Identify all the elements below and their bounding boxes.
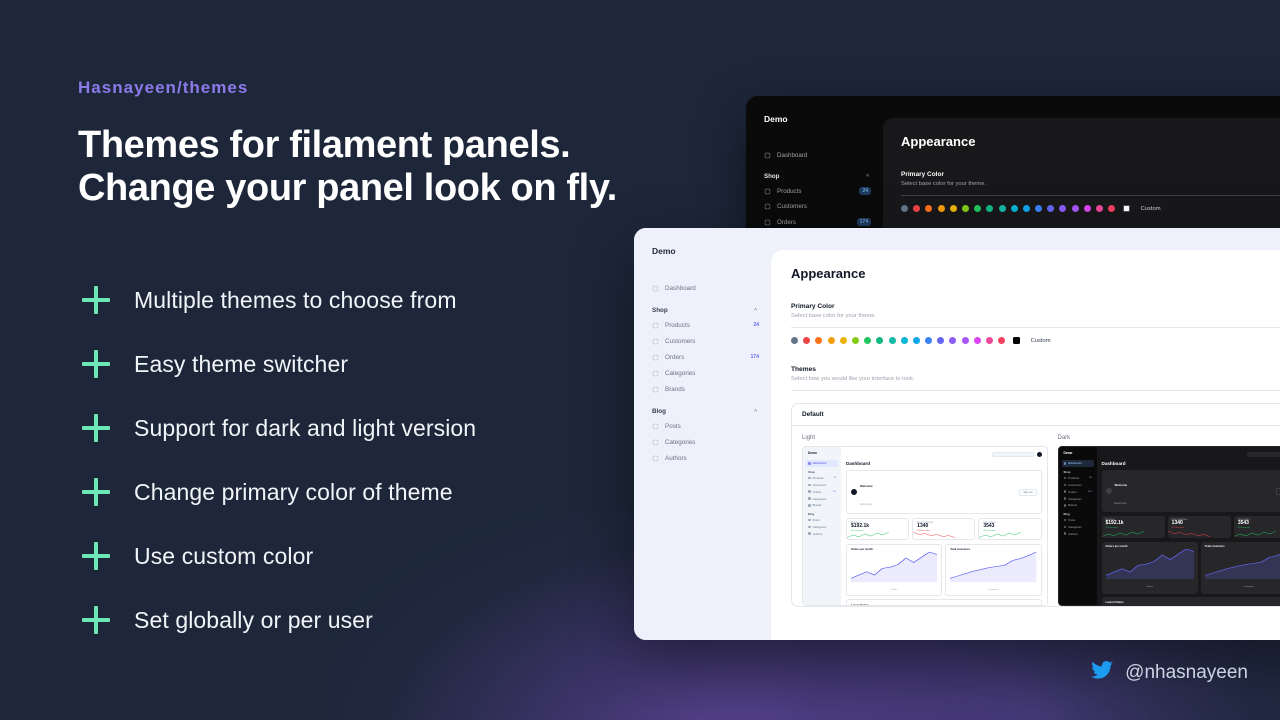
sidebar-item-label: Orders	[777, 219, 796, 226]
color-swatch[interactable]	[962, 337, 969, 344]
preview-sparkline	[1234, 531, 1276, 538]
sidebar-item-customers[interactable]: Customers	[634, 333, 771, 349]
item-icon	[1064, 532, 1067, 535]
item-icon	[808, 504, 811, 507]
color-swatch[interactable]	[974, 205, 981, 212]
repo-name: Hasnayeen/themes	[78, 78, 638, 98]
item-icon	[808, 519, 811, 522]
divider	[791, 390, 1280, 391]
themes-description: Select how you would like your interface…	[791, 376, 1280, 382]
bolt-icon	[764, 188, 771, 195]
preview-charts-row: Orders per monthOrdersTotal customersCus…	[846, 544, 1042, 596]
book-icon	[652, 386, 659, 393]
preview-charts-row: Orders per monthOrdersTotal customersCus…	[1102, 542, 1280, 594]
dark-panel-brand: Demo	[746, 110, 883, 124]
color-swatch[interactable]	[1084, 205, 1091, 212]
item-icon	[808, 497, 811, 500]
hero-text-block: Hasnayeen/themes Themes for filament pan…	[78, 78, 638, 210]
color-swatch[interactable]	[938, 205, 945, 212]
dark-color-swatch-row: Custom	[901, 205, 1280, 212]
dark-panel-title: Appearance	[901, 134, 1280, 149]
preview-topbar	[1102, 451, 1280, 458]
panel-sidebar: Demo DashboardShop^Products24CustomersOr…	[634, 228, 771, 640]
chevron-up-icon[interactable]: ^	[754, 308, 757, 314]
preview-chart-legend: Orders	[1106, 586, 1194, 588]
custom-color-swatch[interactable]	[1013, 337, 1020, 344]
headline-line-1: Themes for filament panels.	[78, 124, 638, 167]
preview-chart-card: Orders per monthOrders	[1102, 542, 1198, 594]
chevron-up-icon[interactable]: ^	[754, 409, 757, 415]
users-icon	[652, 338, 659, 345]
color-swatch[interactable]	[840, 337, 847, 344]
preview-user-avatar	[1106, 488, 1112, 494]
preview-nav-item[interactable]: Brands	[1062, 502, 1094, 509]
home-icon	[808, 462, 811, 465]
preview-chart-legend: Customers	[950, 589, 1036, 591]
preview-stat-delta: 7% increase	[1106, 527, 1161, 529]
color-swatch[interactable]	[913, 337, 920, 344]
preview-stat-card: New customers13403% decrease	[1168, 516, 1231, 538]
themes-heading: Themes	[791, 366, 1280, 373]
color-swatch[interactable]	[1072, 205, 1079, 212]
preview-stat-card: New orders35433% increase	[1234, 516, 1280, 538]
feature-label: Multiple themes to choose from	[134, 287, 457, 314]
sidebar-item-label: Posts	[665, 423, 681, 430]
sidebar-group-shop[interactable]: Shop^	[634, 296, 771, 317]
item-icon	[1064, 484, 1067, 487]
color-swatch[interactable]	[901, 205, 908, 212]
preview-chart-plot	[1205, 549, 1280, 581]
preview-welcome-subtitle: Demo User	[860, 503, 872, 506]
home-icon	[652, 285, 659, 292]
divider	[901, 195, 1280, 196]
preview-page-title: Dashboard	[846, 461, 1042, 466]
preview-nav-badge: 24	[834, 477, 836, 479]
preview-nav-badge: 24	[1089, 477, 1091, 479]
preview-stat-delta: 3% increase	[1238, 527, 1280, 529]
preview-sparkline	[847, 532, 889, 539]
sidebar-group-label: Shop	[652, 307, 668, 314]
page-title: Themes for filament panels. Change your …	[78, 124, 638, 210]
feature-label: Easy theme switcher	[134, 351, 348, 378]
preview-nav-item[interactable]: Categories	[1062, 523, 1094, 530]
preview-brand: Demo	[806, 451, 838, 455]
preview-page-title: Dashboard	[1102, 461, 1280, 466]
preview-latest-title: Latest Orders	[1106, 600, 1280, 604]
color-swatch[interactable]	[974, 337, 981, 344]
sidebar-item-brands[interactable]: Brands	[634, 381, 771, 397]
sidebar-item-dashboard[interactable]: Dashboard	[746, 148, 883, 163]
theme-card-body: Light DemoDashboardShopProducts24Custome…	[792, 426, 1280, 606]
preview-nav-item[interactable]: Products24	[806, 475, 838, 482]
custom-color-label: Custom	[1141, 206, 1161, 212]
preview-nav-dashboard[interactable]: Dashboard	[1062, 460, 1094, 467]
color-swatch[interactable]	[1108, 205, 1115, 212]
sidebar-group-shop[interactable]: Shop^	[746, 163, 883, 183]
sidebar-item-customers[interactable]: Customers	[746, 199, 883, 214]
color-swatch[interactable]	[876, 337, 883, 344]
bolt-icon	[652, 322, 659, 329]
sidebar-item-products[interactable]: Products24	[746, 183, 883, 199]
preview-chart-legend: Customers	[1205, 586, 1280, 588]
sidebar-item-label: Customers	[777, 203, 807, 210]
preview-welcome-card: WelcomeDemo UserSign out	[846, 470, 1042, 514]
sidebar-item-label: Categories	[665, 370, 695, 377]
theme-card-default[interactable]: Default Light DemoDashboardShopProducts2…	[791, 403, 1280, 607]
preview-nav-item[interactable]: Customers	[806, 482, 838, 489]
preview-main: DashboardWelcomeDemo UserSign outRevenue…	[1097, 447, 1280, 605]
preview-sparkline	[979, 532, 1021, 539]
color-swatch[interactable]	[1035, 205, 1042, 212]
plus-icon	[78, 474, 114, 510]
home-icon	[764, 152, 771, 159]
plus-icon	[78, 410, 114, 446]
preview-search-input[interactable]	[1247, 452, 1280, 457]
preview-welcome-title: Welcome	[860, 484, 873, 488]
preview-avatar[interactable]	[1037, 452, 1042, 457]
preview-chart-card: Total customersCustomers	[945, 544, 1041, 596]
theme-option-light[interactable]: Light DemoDashboardShopProducts24Custome…	[802, 435, 1048, 606]
preview-nav-item[interactable]: Categories	[806, 523, 838, 530]
sidebar-item-posts[interactable]: Posts	[634, 418, 771, 434]
theme-dark-label: Dark	[1058, 435, 1280, 441]
preview-group-shop: Shop	[1062, 467, 1094, 475]
preview-nav-badge: 174	[1088, 491, 1092, 493]
feature-item: Change primary color of theme	[78, 460, 476, 524]
item-icon	[808, 532, 811, 535]
item-icon	[808, 484, 811, 487]
item-icon	[1064, 526, 1067, 529]
twitter-credit: @nhasnayeen	[1091, 661, 1248, 684]
theme-option-dark[interactable]: Dark DemoDashboardShopProducts24Customer…	[1058, 435, 1280, 606]
theme-light-label: Light	[802, 435, 1048, 441]
sidebar-item-label: Orders	[665, 354, 684, 361]
panel-nav: DashboardShop^Products24CustomersOrders1…	[634, 280, 771, 466]
preview-sparkline	[1102, 531, 1144, 538]
preview-latest-title: Latest Orders	[851, 603, 1037, 606]
document-icon	[652, 423, 659, 430]
preview-nav-item[interactable]: Posts	[1062, 517, 1094, 524]
preview-stats-row: Revenue$192.1k7% increaseNew customers13…	[846, 518, 1042, 540]
preview-chart-title: Total customers	[950, 548, 1036, 551]
panel-brand: Demo	[634, 242, 771, 256]
sidebar-item-label: Dashboard	[777, 152, 807, 159]
preview-chart-title: Orders per month	[851, 548, 937, 551]
sidebar-item-label: Dashboard	[665, 285, 696, 292]
feature-item: Easy theme switcher	[78, 332, 476, 396]
preview-sparkline	[1168, 531, 1210, 538]
preview-nav-item[interactable]: Customers	[1062, 482, 1094, 489]
item-icon	[1064, 504, 1067, 507]
preview-stat-card: Revenue$192.1k7% increase	[846, 518, 909, 540]
preview-chart-title: Orders per month	[1106, 545, 1194, 548]
plus-icon	[78, 602, 114, 638]
plus-icon	[78, 282, 114, 318]
preview-sidebar: DemoDashboardShopProducts24CustomersOrde…	[1059, 447, 1097, 605]
color-swatch[interactable]	[1096, 205, 1103, 212]
preview-user-avatar	[851, 489, 857, 495]
dark-primary-color-description: Select base color for your theme.	[901, 181, 1280, 187]
preview-stat-card: New customers13403% decrease	[912, 518, 975, 540]
sidebar-group-label: Blog	[652, 408, 666, 415]
sidebar-item-badge: 174	[857, 218, 871, 226]
plus-icon	[78, 538, 114, 574]
preview-welcome-card: WelcomeDemo UserSign out	[1102, 470, 1280, 512]
preview-stat-card: New orders35433% increase	[978, 518, 1041, 540]
color-swatch[interactable]	[1047, 205, 1054, 212]
users-icon	[652, 455, 659, 462]
item-icon	[1064, 519, 1067, 522]
custom-color-swatch[interactable]	[1123, 205, 1130, 212]
color-swatch[interactable]	[852, 337, 859, 344]
feature-item: Multiple themes to choose from	[78, 268, 476, 332]
twitter-icon	[1091, 661, 1113, 684]
sidebar-item-badge: 174	[751, 354, 759, 360]
preview-search-input[interactable]	[992, 452, 1034, 457]
preview-latest-orders: Latest OrdersOrder dateNumberCustomerSta…	[846, 599, 1042, 606]
sidebar-group-label: Shop	[764, 173, 779, 180]
color-swatch[interactable]	[925, 337, 932, 344]
color-swatch[interactable]	[803, 337, 810, 344]
preview-chart-title: Total customers	[1205, 545, 1280, 548]
primary-color-description: Select base color for your theme.	[791, 313, 1280, 319]
sidebar-item-dashboard[interactable]: Dashboard	[634, 280, 771, 296]
feature-label: Set globally or per user	[134, 607, 373, 634]
preview-signout-button[interactable]: Sign out	[1276, 488, 1280, 495]
item-icon	[808, 490, 811, 493]
color-swatch[interactable]	[986, 337, 993, 344]
color-swatch[interactable]	[950, 205, 957, 212]
dark-primary-color-heading: Primary Color	[901, 171, 1280, 178]
feature-label: Support for dark and light version	[134, 415, 476, 442]
twitter-handle: @nhasnayeen	[1125, 662, 1248, 684]
preview-nav-item[interactable]: Posts	[806, 517, 838, 524]
sidebar-item-badge: 24	[859, 187, 871, 195]
panel-main-content: Appearance Primary Color Select base col…	[771, 250, 1280, 640]
preview-chart-card: Total customersCustomers	[1201, 542, 1280, 594]
sidebar-item-label: Authors	[665, 455, 687, 462]
preview-chart-legend: Orders	[851, 589, 937, 591]
home-icon	[1064, 462, 1067, 465]
color-swatch[interactable]	[828, 337, 835, 344]
preview-chart-card: Orders per monthOrders	[846, 544, 942, 596]
preview-group-shop: Shop	[806, 467, 838, 475]
preview-nav-dashboard[interactable]: Dashboard	[806, 460, 838, 467]
color-swatch[interactable]	[999, 205, 1006, 212]
preview-group-blog: Blog	[1062, 509, 1094, 517]
color-swatch[interactable]	[998, 337, 1005, 344]
color-swatch-row: Custom	[791, 337, 1280, 344]
headline-line-2: Change your panel look on fly.	[78, 167, 638, 210]
color-swatch[interactable]	[901, 337, 908, 344]
color-swatch[interactable]	[864, 337, 871, 344]
tag-icon	[652, 370, 659, 377]
preview-nav-item[interactable]: Brands	[806, 502, 838, 509]
color-swatch[interactable]	[949, 337, 956, 344]
feature-item: Support for dark and light version	[78, 396, 476, 460]
preview-welcome-title: Welcome	[1115, 483, 1128, 487]
feature-item: Set globally or per user	[78, 588, 476, 652]
feature-label: Change primary color of theme	[134, 479, 453, 506]
color-swatch[interactable]	[913, 205, 920, 212]
color-swatch[interactable]	[937, 337, 944, 344]
theme-card-title: Default	[792, 404, 1280, 426]
color-swatch[interactable]	[815, 337, 822, 344]
sidebar-item-orders[interactable]: Orders174	[634, 349, 771, 365]
preview-nav-item[interactable]: Authors	[806, 530, 838, 537]
color-swatch[interactable]	[925, 205, 932, 212]
color-swatch[interactable]	[791, 337, 798, 344]
feature-label: Use custom color	[134, 543, 313, 570]
users-icon	[764, 203, 771, 210]
divider	[791, 327, 1280, 328]
item-icon	[1064, 490, 1067, 493]
preview-chart-plot	[851, 552, 937, 584]
item-icon	[1064, 477, 1067, 480]
preview-nav-item[interactable]: Categories	[1062, 495, 1094, 502]
preview-welcome-subtitle: Demo User	[1115, 502, 1127, 505]
preview-sidebar: DemoDashboardShopProducts24CustomersOrde…	[803, 447, 841, 605]
feature-list: Multiple themes to choose fromEasy theme…	[78, 268, 476, 652]
preview-group-blog: Blog	[806, 509, 838, 517]
sidebar-item-label: Customers	[665, 338, 695, 345]
sidebar-item-label: Products	[665, 322, 690, 329]
bag-icon	[764, 219, 771, 226]
sidebar-item-label: Brands	[665, 386, 685, 393]
color-swatch[interactable]	[986, 205, 993, 212]
color-swatch[interactable]	[1059, 205, 1066, 212]
preview-brand: Demo	[1062, 451, 1094, 455]
bag-icon	[652, 354, 659, 361]
chevron-up-icon[interactable]: ^	[866, 174, 869, 180]
light-theme-panel-preview: Demo DashboardShop^Products24CustomersOr…	[634, 228, 1280, 640]
feature-item: Use custom color	[78, 524, 476, 588]
item-icon	[808, 526, 811, 529]
dark-dashboard-preview: DemoDashboardShopProducts24CustomersOrde…	[1058, 446, 1280, 606]
preview-latest-orders: Latest OrdersOrder dateNumberCustomerSta…	[1102, 597, 1280, 606]
preview-nav-item[interactable]: Categories	[806, 495, 838, 502]
sidebar-item-authors[interactable]: Authors	[634, 450, 771, 466]
preview-nav-item[interactable]: Orders174	[806, 488, 838, 495]
preview-topbar	[846, 451, 1042, 458]
item-icon	[808, 477, 811, 480]
color-swatch[interactable]	[1011, 205, 1018, 212]
color-swatch[interactable]	[1023, 205, 1030, 212]
preview-stats-row: Revenue$192.1k7% increaseNew customers13…	[1102, 516, 1280, 538]
preview-nav-item[interactable]: Orders174	[1062, 488, 1094, 495]
sidebar-item-label: Categories	[665, 439, 695, 446]
preview-nav-badge: 174	[832, 491, 836, 493]
appearance-title: Appearance	[791, 266, 1280, 281]
color-swatch[interactable]	[889, 337, 896, 344]
sidebar-group-blog[interactable]: Blog^	[634, 397, 771, 418]
custom-color-label: Custom	[1031, 338, 1051, 344]
preview-stat-card: Revenue$192.1k7% increase	[1102, 516, 1165, 538]
preview-nav-item[interactable]: Products24	[1062, 475, 1094, 482]
preview-chart-plot	[1106, 549, 1194, 581]
preview-chart-plot	[950, 552, 1036, 584]
preview-sparkline	[913, 532, 955, 539]
sidebar-item-badge: 24	[753, 322, 759, 328]
preview-main: DashboardWelcomeDemo UserSign outRevenue…	[841, 447, 1047, 605]
primary-color-heading: Primary Color	[791, 303, 1280, 310]
item-icon	[1064, 497, 1067, 500]
sidebar-item-categories[interactable]: Categories	[634, 365, 771, 381]
sidebar-item-label: Products	[777, 188, 801, 195]
plus-icon	[78, 346, 114, 382]
color-swatch[interactable]	[962, 205, 969, 212]
sidebar-item-categories[interactable]: Categories	[634, 434, 771, 450]
preview-signout-button[interactable]: Sign out	[1019, 489, 1036, 496]
folder-icon	[652, 439, 659, 446]
sidebar-item-products[interactable]: Products24	[634, 317, 771, 333]
preview-nav-item[interactable]: Authors	[1062, 530, 1094, 537]
preview-stat-delta: 3% decrease	[1172, 527, 1227, 529]
light-dashboard-preview: DemoDashboardShopProducts24CustomersOrde…	[802, 446, 1048, 606]
